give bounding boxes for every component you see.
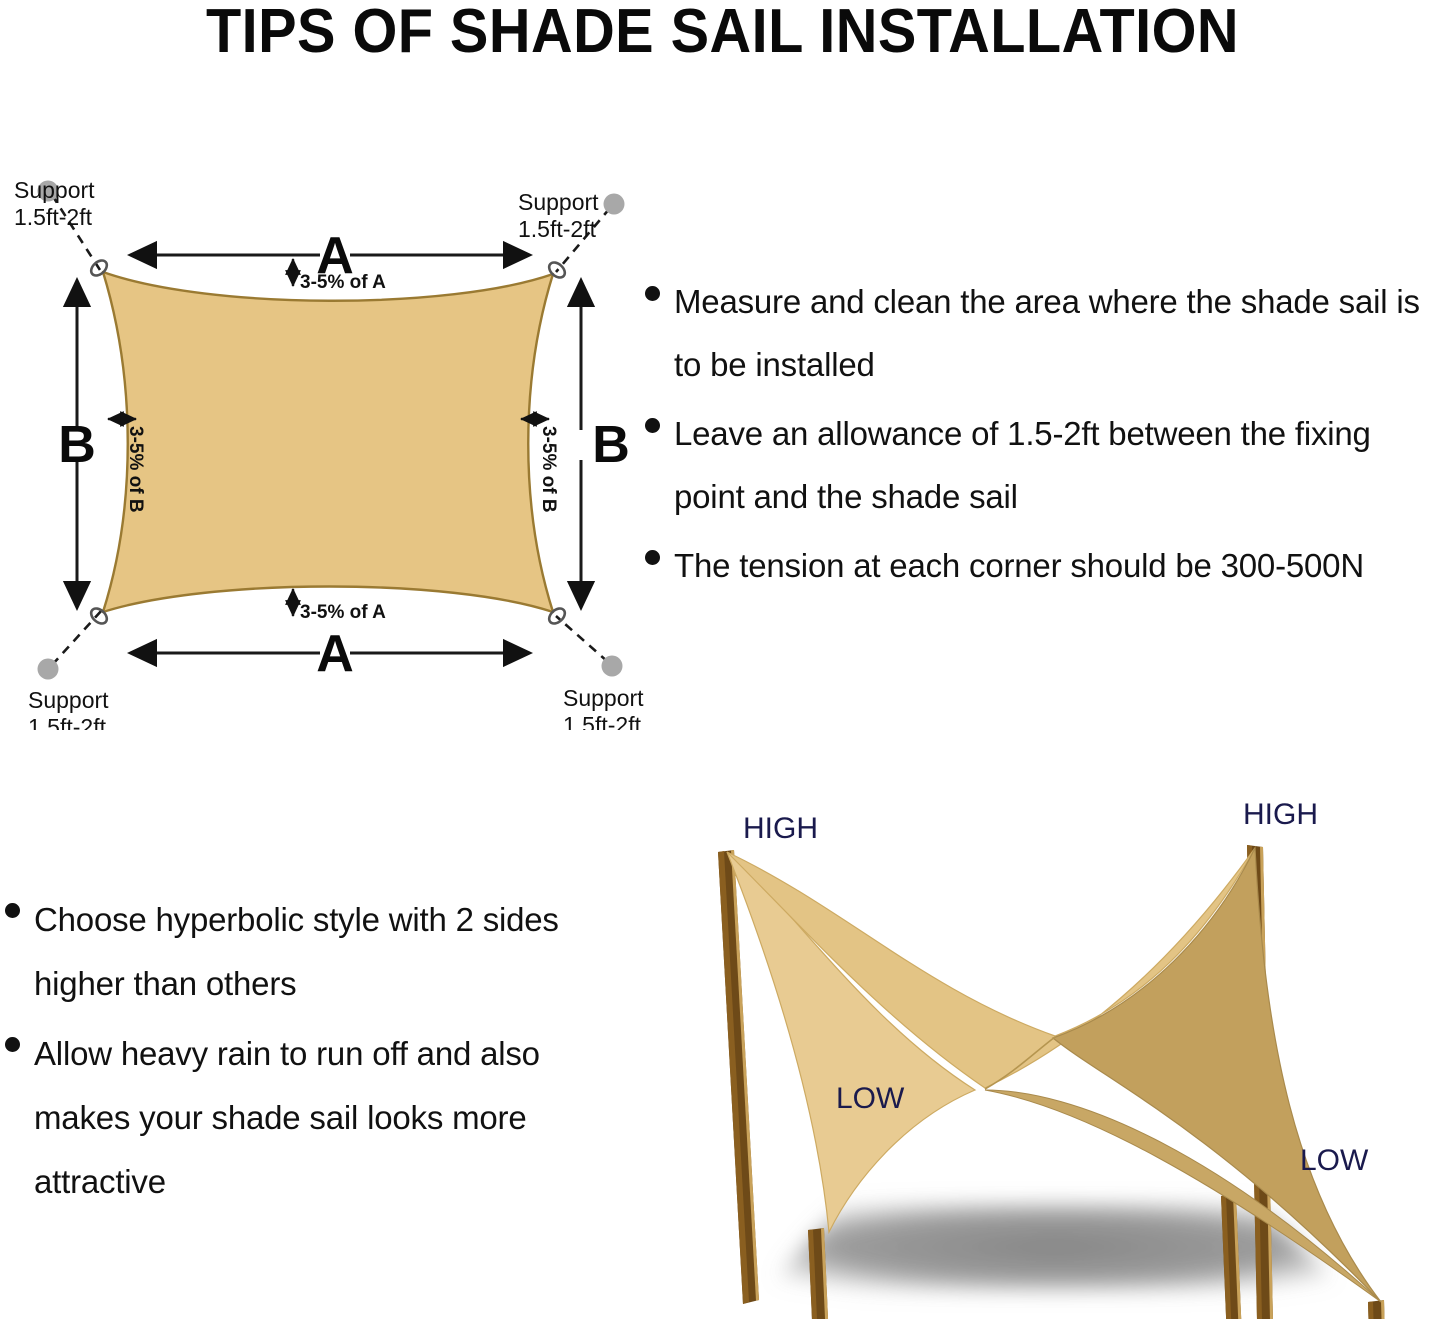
tips-list-right: Measure and clean the area where the sha… — [645, 270, 1445, 603]
tips-list-bottom-left: Choose hyperbolic style with 2 sides hig… — [5, 888, 625, 1220]
infographic-page: TIPS OF SHADE SAIL INSTALLATION — [0, 0, 1445, 1319]
support-label-top-right-line2: 1.5ft-2ft — [518, 216, 597, 242]
support-label-top-right-line1: Support — [518, 189, 599, 215]
support-label-bottom-right-line2: 1.5ft-2ft — [563, 712, 642, 730]
label-high-left: HIGH — [743, 812, 818, 845]
tip-text: Choose hyperbolic style with 2 sides hig… — [34, 888, 625, 1016]
list-item: Allow heavy rain to run off and also mak… — [5, 1022, 625, 1214]
label-low-right: LOW — [1300, 1144, 1369, 1177]
bullet-dot-icon — [645, 550, 660, 565]
tip-text: Allow heavy rain to run off and also mak… — [34, 1022, 625, 1214]
label-high-right: HIGH — [1243, 798, 1318, 831]
curvature-label-bottom: 3-5% of A — [300, 602, 386, 623]
list-item: Choose hyperbolic style with 2 sides hig… — [5, 888, 625, 1016]
sail-shape — [103, 272, 553, 612]
support-label-top-left-line1: Support — [14, 177, 95, 203]
bullet-dot-icon — [5, 903, 20, 918]
tip-text: Measure and clean the area where the sha… — [674, 270, 1445, 396]
support-label-top-left-line2: 1.5ft-2ft — [14, 204, 93, 230]
list-item: Leave an allowance of 1.5-2ft between th… — [645, 402, 1445, 528]
bullet-dot-icon — [5, 1037, 20, 1052]
support-label-bottom-right-line1: Support — [563, 685, 644, 711]
page-title: TIPS OF SHADE SAIL INSTALLATION — [51, 0, 1395, 67]
dimension-label-b-right: B — [592, 416, 630, 474]
dimension-label-a-bottom: A — [316, 625, 354, 683]
tip-text: Leave an allowance of 1.5-2ft between th… — [674, 402, 1445, 528]
bullet-dot-icon — [645, 418, 660, 433]
curvature-label-right: 3-5% of B — [538, 426, 559, 513]
support-dot-bottom-right — [602, 656, 623, 677]
label-low-left: LOW — [836, 1082, 905, 1115]
list-item: Measure and clean the area where the sha… — [645, 270, 1445, 396]
support-label-bottom-left-line2: 1.5ft-2ft — [28, 714, 107, 730]
list-item: The tension at each corner should be 300… — [645, 534, 1445, 597]
support-label-bottom-left-line1: Support — [28, 687, 109, 713]
dimension-label-b-left: B — [58, 416, 96, 474]
curvature-label-left: 3-5% of B — [125, 426, 146, 513]
curvature-label-top: 3-5% of A — [300, 272, 386, 293]
hyperbolic-sail-diagram: HIGH HIGH LOW LOW — [655, 790, 1445, 1319]
post-low-right — [1368, 1300, 1391, 1319]
rectangular-sail-diagram: A A B B 3-5% of — [0, 160, 660, 730]
support-dot-top-right — [604, 194, 625, 215]
tip-text: The tension at each corner should be 300… — [674, 534, 1445, 597]
bullet-dot-icon — [645, 286, 660, 301]
support-dot-bottom-left — [38, 659, 59, 680]
